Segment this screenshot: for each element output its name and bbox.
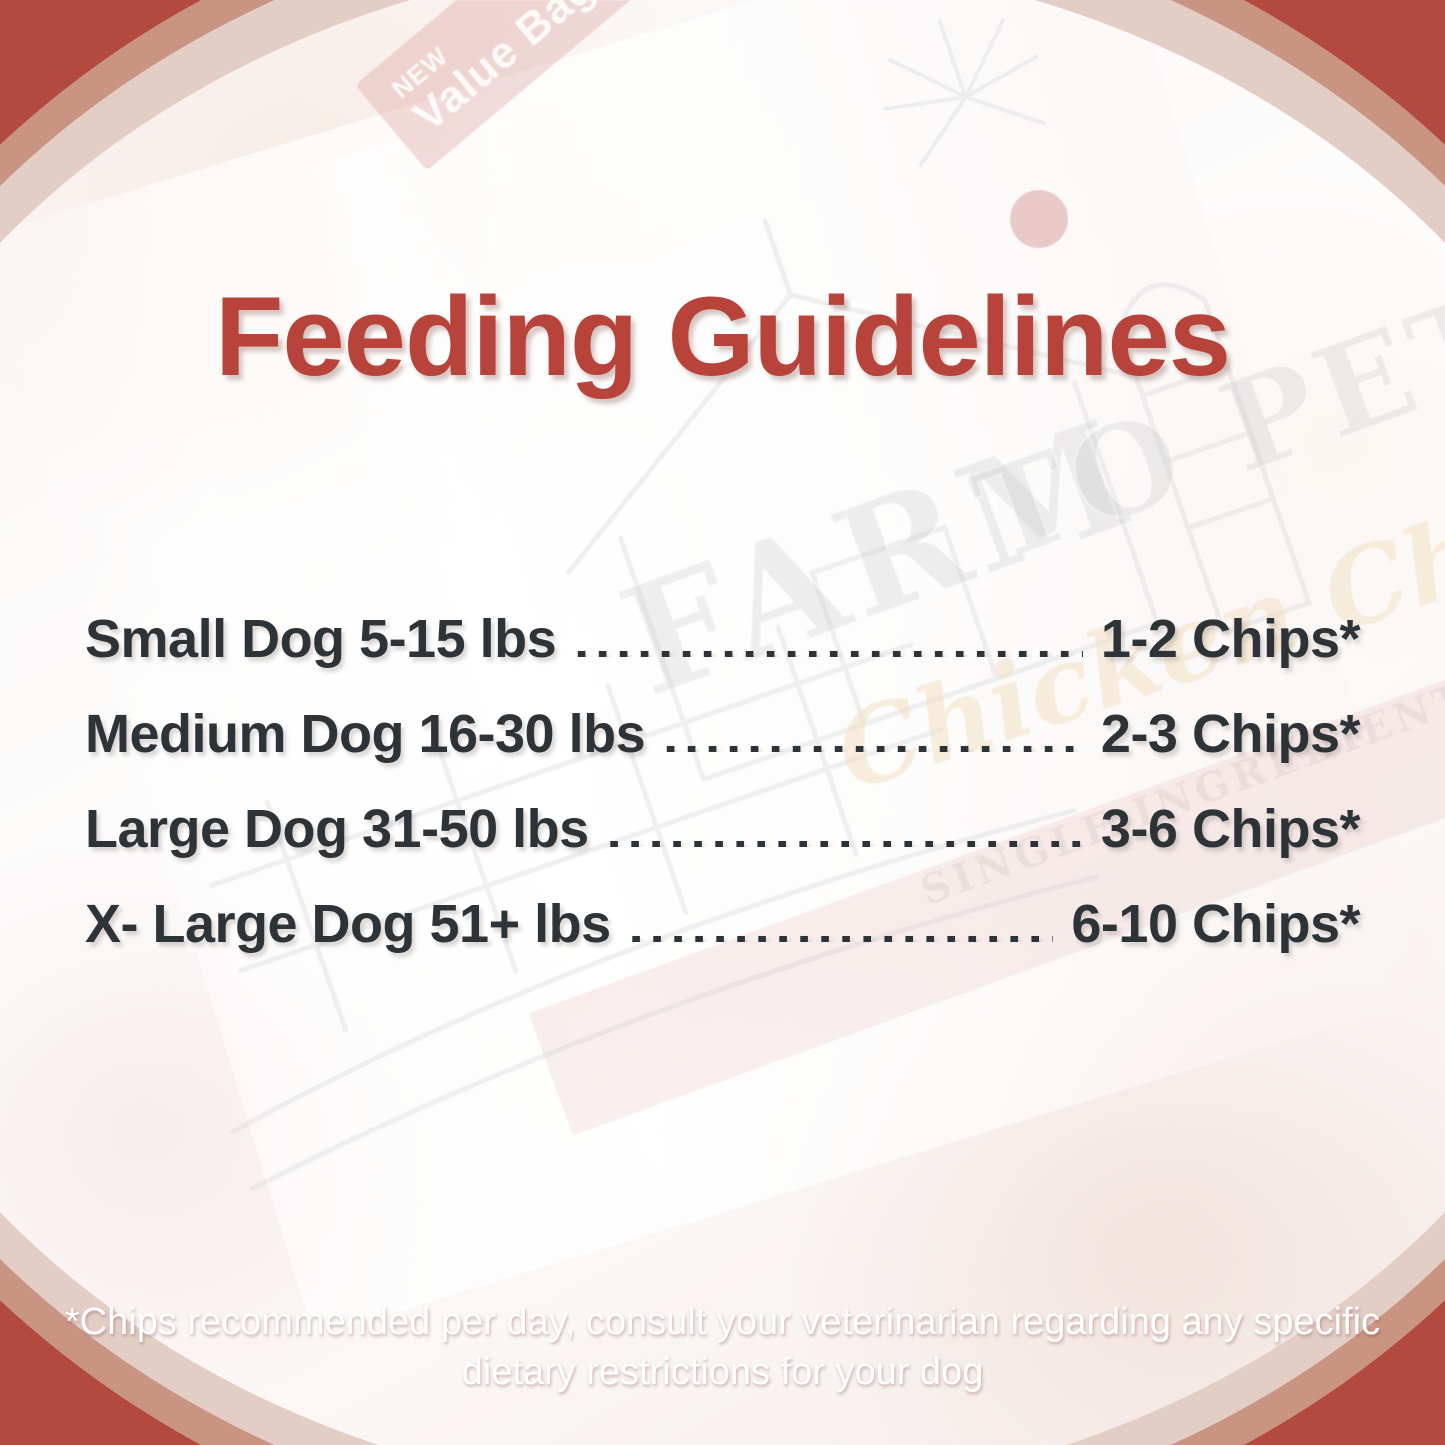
table-row: Medium Dog 16-30 lbs ...................… [85, 703, 1360, 798]
table-row: Small Dog 5-15 lbs .....................… [85, 608, 1360, 703]
dog-size-label: X- Large Dog 51+ lbs [85, 893, 611, 955]
leader-dots: ...................................... [663, 720, 1083, 752]
footnote-text: *Chips recommended per day, consult your… [0, 1297, 1445, 1397]
page-title: Feeding Guidelines [0, 272, 1445, 401]
leader-dots: ...................................... [574, 625, 1083, 657]
dog-size-label: Small Dog 5-15 lbs [85, 608, 556, 670]
chip-amount-label: 2-3 Chips* [1101, 703, 1360, 765]
feeding-guidelines-poster: NEW Value Bag FARM TO PET Chicken Chips … [0, 0, 1445, 1445]
leader-dots: ...................................... [607, 815, 1083, 847]
chip-amount-label: 6-10 Chips* [1071, 893, 1360, 955]
dog-size-label: Medium Dog 16-30 lbs [85, 703, 645, 765]
dog-size-label: Large Dog 31-50 lbs [85, 798, 589, 860]
chip-amount-label: 1-2 Chips* [1101, 608, 1360, 670]
table-row: Large Dog 31-50 lbs ....................… [85, 798, 1360, 893]
leader-dots: ...................................... [629, 910, 1054, 942]
poster-content: Feeding Guidelines Small Dog 5-15 lbs ..… [0, 0, 1445, 1445]
feeding-table: Small Dog 5-15 lbs .....................… [85, 608, 1360, 988]
table-row: X- Large Dog 51+ lbs ...................… [85, 893, 1360, 988]
chip-amount-label: 3-6 Chips* [1101, 798, 1360, 860]
